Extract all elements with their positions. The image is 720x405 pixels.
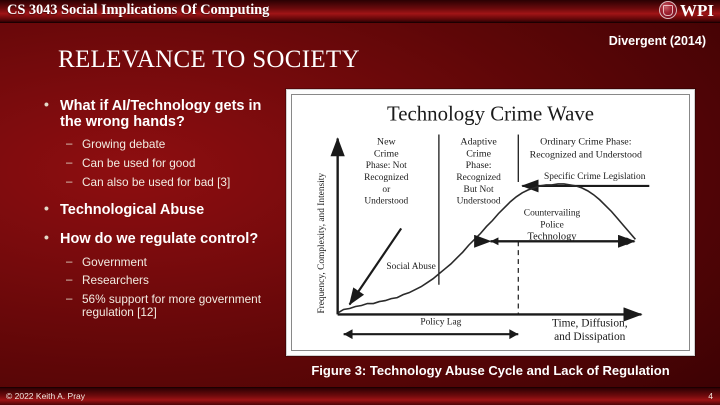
bullet-item-5: Technological Abuse: [42, 202, 282, 218]
slide-header-bar: CS 3043 Social Implications Of Computing…: [0, 0, 720, 23]
page-title: RELEVANCE TO SOCIETY: [58, 46, 360, 74]
wpi-logo-text: WPI: [680, 2, 714, 19]
svg-text:Recognized: Recognized: [364, 173, 409, 183]
svg-text:Understood: Understood: [457, 197, 501, 207]
slide-footer-bar: © 2022 Keith A. Pray 4: [0, 387, 720, 405]
figure-caption: Figure 3: Technology Abuse Cycle and Lac…: [286, 363, 695, 378]
y-axis-label: Frequency, Complexity, and Intensity: [317, 173, 327, 314]
x-axis-label-line2: and Dissipation: [554, 331, 626, 343]
figure-image: Technology Crime Wave Frequency, Complex…: [286, 89, 695, 356]
bullet-item-4: Can also be used for bad [3]: [42, 176, 282, 190]
wpi-logo: WPI: [659, 1, 714, 19]
wpi-seal-icon: [659, 1, 677, 19]
bullet-item-6: How do we regulate control?: [42, 231, 282, 247]
svg-text:Crime: Crime: [374, 148, 399, 159]
course-title: CS 3043 Social Implications Of Computing: [7, 2, 269, 19]
svg-text:Understood: Understood: [364, 197, 408, 207]
annotation-specific-crime-legislation: Specific Crime Legislation: [522, 171, 649, 186]
svg-text:Recognized: Recognized: [456, 173, 501, 183]
phase-label-ordinary-crime: Ordinary Crime Phase: Recognized and Und…: [530, 136, 642, 160]
svg-text:Policy Lag: Policy Lag: [420, 317, 461, 327]
svg-text:Specific Crime Legislation: Specific Crime Legislation: [544, 171, 646, 182]
page-number: 4: [708, 391, 713, 401]
svg-text:Police: Police: [540, 220, 564, 230]
svg-text:Adaptive: Adaptive: [460, 136, 497, 147]
source-reference: Divergent (2014): [609, 34, 706, 48]
annotation-social-abuse: Social Abuse: [350, 228, 436, 304]
bullet-item-2: Growing debate: [42, 138, 282, 152]
presentation-slide: CS 3043 Social Implications Of Computing…: [0, 0, 720, 405]
bullet-list: What if AI/Technology gets in the wrong …: [42, 98, 282, 325]
svg-text:Recognized and Understood: Recognized and Understood: [530, 149, 642, 160]
bullet-item-7: Government: [42, 256, 282, 270]
svg-text:Phase: Not: Phase: Not: [366, 161, 407, 171]
phase-label-new-crime: New Crime Phase: Not Recognized or Under…: [364, 136, 409, 206]
svg-text:Countervailing: Countervailing: [524, 209, 581, 219]
svg-text:Crime: Crime: [466, 148, 491, 159]
phase-label-adaptive-crime: Adaptive Crime Phase: Recognized But Not…: [456, 136, 501, 206]
technology-crime-wave-chart: Technology Crime Wave Frequency, Complex…: [292, 95, 689, 350]
bullet-item-9: 56% support for more government regulati…: [42, 293, 282, 320]
bullet-item-8: Researchers: [42, 274, 282, 288]
bullet-item-3: Can be used for good: [42, 157, 282, 171]
svg-text:Ordinary Crime Phase:: Ordinary Crime Phase:: [540, 136, 631, 147]
bullet-item-1: What if AI/Technology gets in the wrong …: [42, 98, 282, 130]
annotation-policy-lag: Policy Lag: [344, 317, 519, 339]
x-axis-label-line1: Time, Diffusion,: [552, 317, 628, 329]
copyright-text: © 2022 Keith A. Pray: [6, 391, 85, 401]
svg-text:or: or: [382, 185, 391, 195]
svg-text:Social Abuse: Social Abuse: [386, 262, 435, 272]
svg-text:But Not: But Not: [464, 185, 494, 195]
chart-title: Technology Crime Wave: [387, 103, 594, 126]
svg-text:New: New: [377, 136, 397, 147]
svg-text:Phase:: Phase:: [466, 160, 492, 171]
chart-canvas: Technology Crime Wave Frequency, Complex…: [291, 94, 690, 351]
